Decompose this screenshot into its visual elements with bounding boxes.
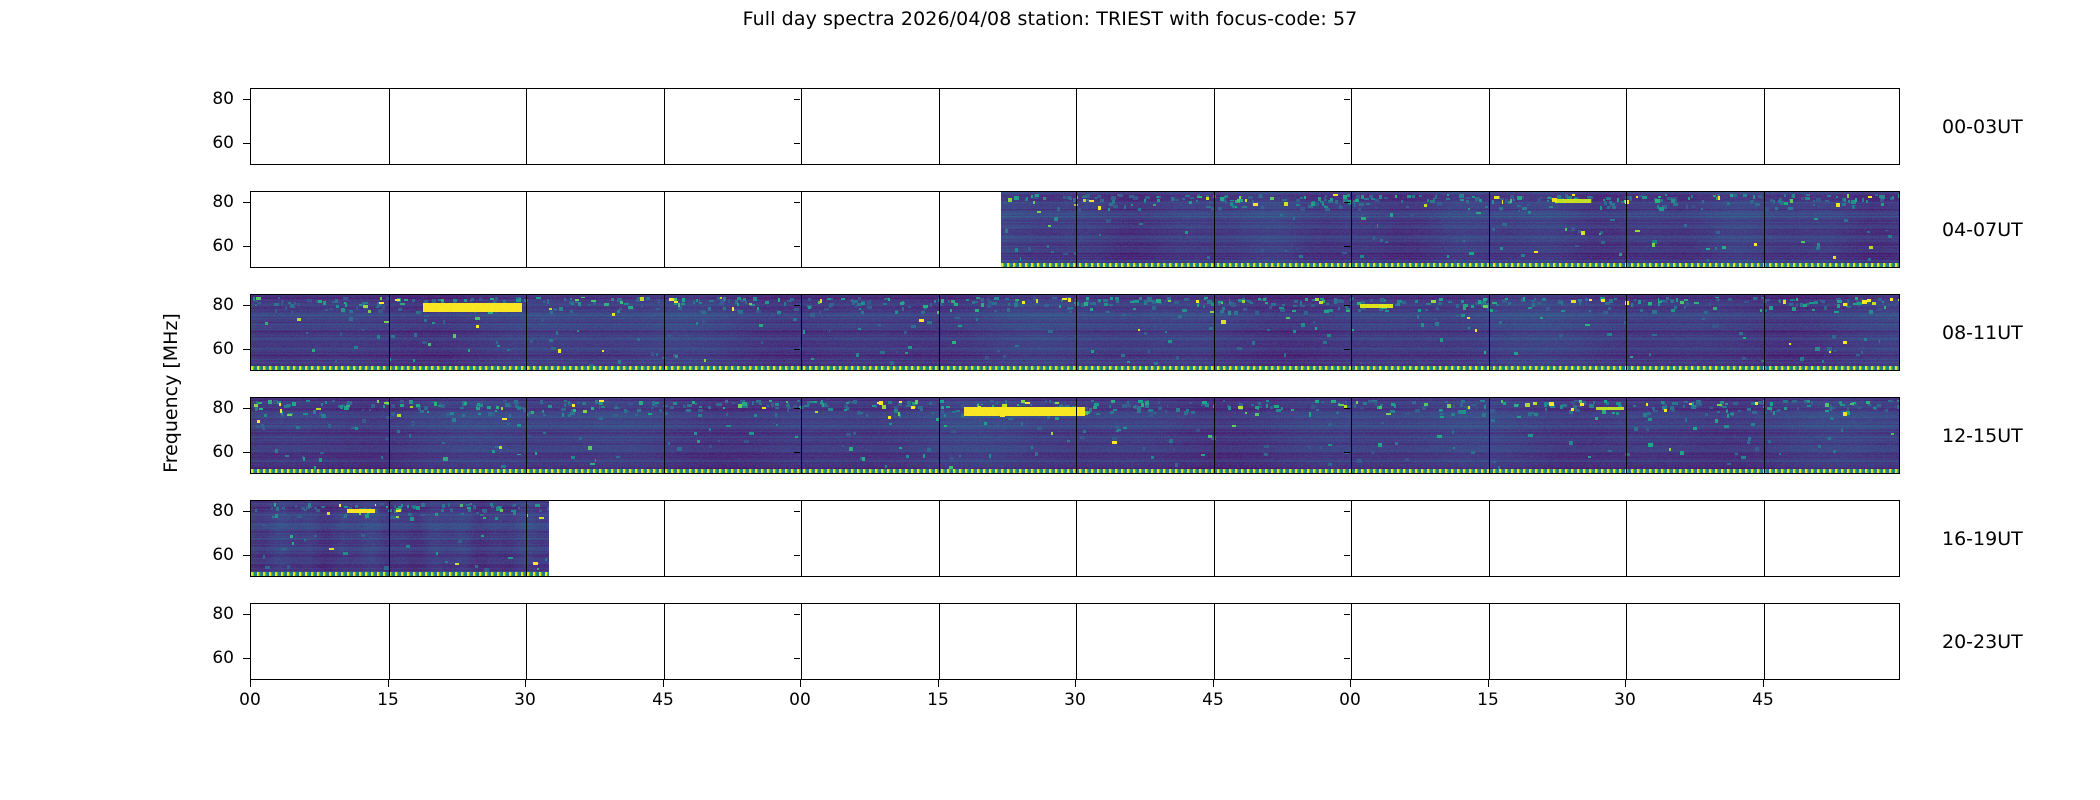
- row-label-00-03ut: 00-03UT: [1942, 117, 2023, 137]
- panel-divider: [801, 192, 802, 267]
- spectrogram-canvas: [251, 398, 1900, 473]
- spectrogram-row-12-15ut[interactable]: [250, 397, 1900, 474]
- y-tick-label: 80: [194, 91, 234, 108]
- y-tick-label: 80: [194, 194, 234, 211]
- spectrogram-figure: Full day spectra 2026/04/08 station: TRI…: [0, 0, 2100, 800]
- x-tick-mark: [388, 680, 389, 687]
- panel-divider: [939, 604, 940, 679]
- panel-divider: [1076, 501, 1077, 576]
- panel-divider: [1489, 604, 1490, 679]
- panel-divider: [801, 604, 802, 679]
- spectrogram-row-04-07ut[interactable]: [250, 191, 1900, 268]
- x-tick-label: 15: [1468, 692, 1508, 709]
- page-title: Full day spectra 2026/04/08 station: TRI…: [0, 8, 2100, 30]
- panel-divider: [1489, 89, 1490, 164]
- y-tick-mark: [243, 246, 250, 247]
- panel-divider: [1351, 89, 1352, 164]
- panel-divider: [1351, 501, 1352, 576]
- y-tick-mark: [243, 349, 250, 350]
- y-tick-mark: [243, 614, 250, 615]
- x-tick-mark: [525, 680, 526, 687]
- x-tick-mark: [1075, 680, 1076, 687]
- y-tick-label: 60: [194, 135, 234, 152]
- row-label-08-11ut: 08-11UT: [1942, 323, 2023, 343]
- panel-divider: [1076, 604, 1077, 679]
- x-tick-mark: [1213, 680, 1214, 687]
- x-tick-label: 30: [505, 692, 545, 709]
- x-tick-mark: [1763, 680, 1764, 687]
- x-tick-label: 15: [368, 692, 408, 709]
- x-tick-mark: [250, 680, 251, 687]
- spectrogram-canvas: [251, 295, 1900, 370]
- panel-divider: [1214, 604, 1215, 679]
- y-tick-mark: [243, 99, 250, 100]
- spectrogram-row-00-03ut[interactable]: [250, 88, 1900, 165]
- x-tick-mark: [1625, 680, 1626, 687]
- spectrogram-canvas: [251, 501, 549, 576]
- spectrogram-row-20-23ut[interactable]: [250, 603, 1900, 680]
- x-tick-label: 45: [1193, 692, 1233, 709]
- y-tick-mark: [243, 143, 250, 144]
- y-tick-label: 80: [194, 503, 234, 520]
- y-tick-mark: [243, 305, 250, 306]
- y-axis-label-text: Frequency [MHz]: [160, 313, 182, 473]
- panel-divider: [1764, 89, 1765, 164]
- y-tick-label: 60: [194, 341, 234, 358]
- x-tick-label: 45: [1743, 692, 1783, 709]
- row-label-20-23ut: 20-23UT: [1942, 632, 2023, 652]
- panel-divider: [664, 501, 665, 576]
- panel-divider: [939, 192, 940, 267]
- y-tick-mark: [243, 408, 250, 409]
- row-label-04-07ut: 04-07UT: [1942, 220, 2023, 240]
- y-tick-label: 80: [194, 297, 234, 314]
- panel-divider: [1626, 501, 1627, 576]
- panel-divider: [664, 89, 665, 164]
- y-tick-label: 60: [194, 547, 234, 564]
- x-tick-mark: [1488, 680, 1489, 687]
- panel-divider: [1489, 501, 1490, 576]
- panel-divider: [1214, 89, 1215, 164]
- panel-divider: [526, 192, 527, 267]
- x-tick-mark: [938, 680, 939, 687]
- y-tick-mark: [243, 511, 250, 512]
- panel-divider: [939, 501, 940, 576]
- panel-divider: [389, 89, 390, 164]
- y-axis-label: Frequency [MHz]: [156, 88, 186, 698]
- x-tick-label: 30: [1605, 692, 1645, 709]
- x-tick-label: 45: [643, 692, 683, 709]
- panel-divider: [389, 192, 390, 267]
- y-tick-mark: [243, 555, 250, 556]
- x-tick-label: 00: [780, 692, 820, 709]
- panel-divider: [664, 192, 665, 267]
- panel-divider: [939, 89, 940, 164]
- y-tick-mark: [243, 202, 250, 203]
- y-tick-label: 80: [194, 606, 234, 623]
- spectrogram-canvas: [1001, 192, 1900, 267]
- y-tick-label: 60: [194, 444, 234, 461]
- spectrogram-row-16-19ut[interactable]: [250, 500, 1900, 577]
- row-label-12-15ut: 12-15UT: [1942, 426, 2023, 446]
- panel-divider: [389, 604, 390, 679]
- spectrogram-row-08-11ut[interactable]: [250, 294, 1900, 371]
- panel-divider: [1764, 604, 1765, 679]
- x-tick-mark: [800, 680, 801, 687]
- panel-divider: [526, 89, 527, 164]
- panel-divider: [801, 501, 802, 576]
- row-label-16-19ut: 16-19UT: [1942, 529, 2023, 549]
- y-tick-mark: [243, 658, 250, 659]
- panel-divider: [1076, 89, 1077, 164]
- panel-divider: [1626, 89, 1627, 164]
- panel-divider: [1351, 604, 1352, 679]
- panel-divider: [1764, 501, 1765, 576]
- y-tick-label: 80: [194, 400, 234, 417]
- y-tick-label: 60: [194, 650, 234, 667]
- x-tick-mark: [663, 680, 664, 687]
- x-tick-label: 30: [1055, 692, 1095, 709]
- panel-divider: [1214, 501, 1215, 576]
- x-tick-label: 00: [230, 692, 270, 709]
- y-tick-label: 60: [194, 238, 234, 255]
- panel-divider: [664, 604, 665, 679]
- y-tick-mark: [243, 452, 250, 453]
- x-tick-label: 15: [918, 692, 958, 709]
- panel-divider: [526, 604, 527, 679]
- x-tick-mark: [1350, 680, 1351, 687]
- panel-divider: [1626, 604, 1627, 679]
- panel-divider: [801, 89, 802, 164]
- x-tick-label: 00: [1330, 692, 1370, 709]
